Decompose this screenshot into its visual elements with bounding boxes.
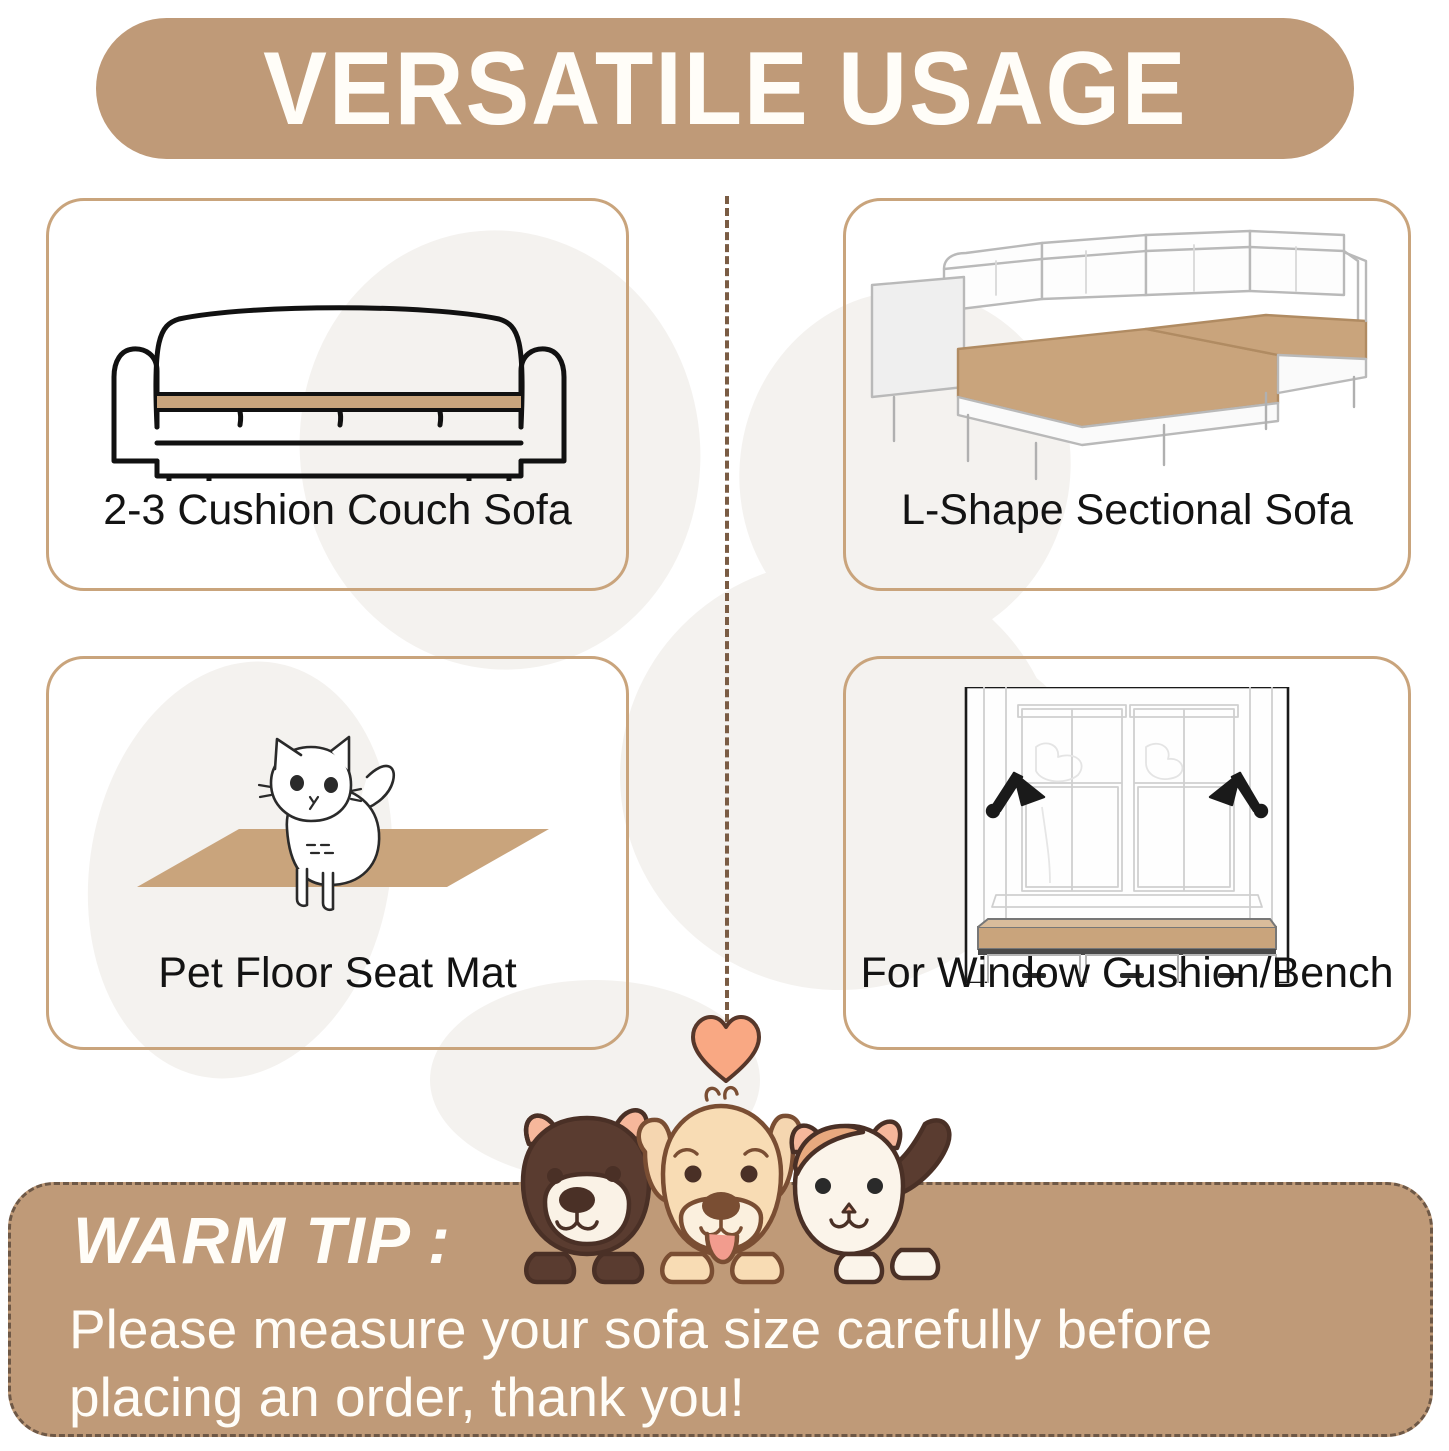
- window-bench-illustration: [846, 687, 1408, 988]
- heart-icon: [690, 1014, 762, 1084]
- usage-card-pet-floor-mat[interactable]: Pet Floor Seat Mat: [46, 656, 629, 1050]
- usage-card-label: 2-3 Cushion Couch Sofa: [49, 486, 626, 535]
- usage-card-couch-sofa[interactable]: 2-3 Cushion Couch Sofa: [46, 198, 629, 591]
- page-title: VERSATILE USAGE: [263, 37, 1187, 141]
- usage-card-label: For Window Cushion/Bench: [846, 949, 1408, 998]
- header-banner: VERSATILE USAGE: [96, 18, 1354, 159]
- warm-tip-line-1: Please measure your sofa size carefully …: [69, 1295, 1409, 1363]
- infographic-stage: VERSATILE USAGE: [0, 0, 1449, 1451]
- usage-card-label: L-Shape Sectional Sofa: [846, 486, 1408, 535]
- three-pets-illustration: [493, 1082, 963, 1297]
- l-shape-sectional-illustration: [846, 225, 1408, 486]
- warm-tip-title: WARM TIP :: [73, 1207, 451, 1273]
- usage-card-window-bench[interactable]: For Window Cushion/Bench: [843, 656, 1411, 1050]
- usage-card-label: Pet Floor Seat Mat: [49, 949, 626, 998]
- warm-tip-line-2: placing an order, thank you!: [69, 1363, 1409, 1431]
- usage-card-l-shape-sectional[interactable]: L-Shape Sectional Sofa: [843, 198, 1411, 591]
- cat-on-mat-illustration: [49, 717, 626, 952]
- warm-tip-body: Please measure your sofa size carefully …: [69, 1295, 1409, 1431]
- vertical-dashed-divider: [725, 196, 729, 1022]
- couch-sofa-illustration: [49, 251, 626, 486]
